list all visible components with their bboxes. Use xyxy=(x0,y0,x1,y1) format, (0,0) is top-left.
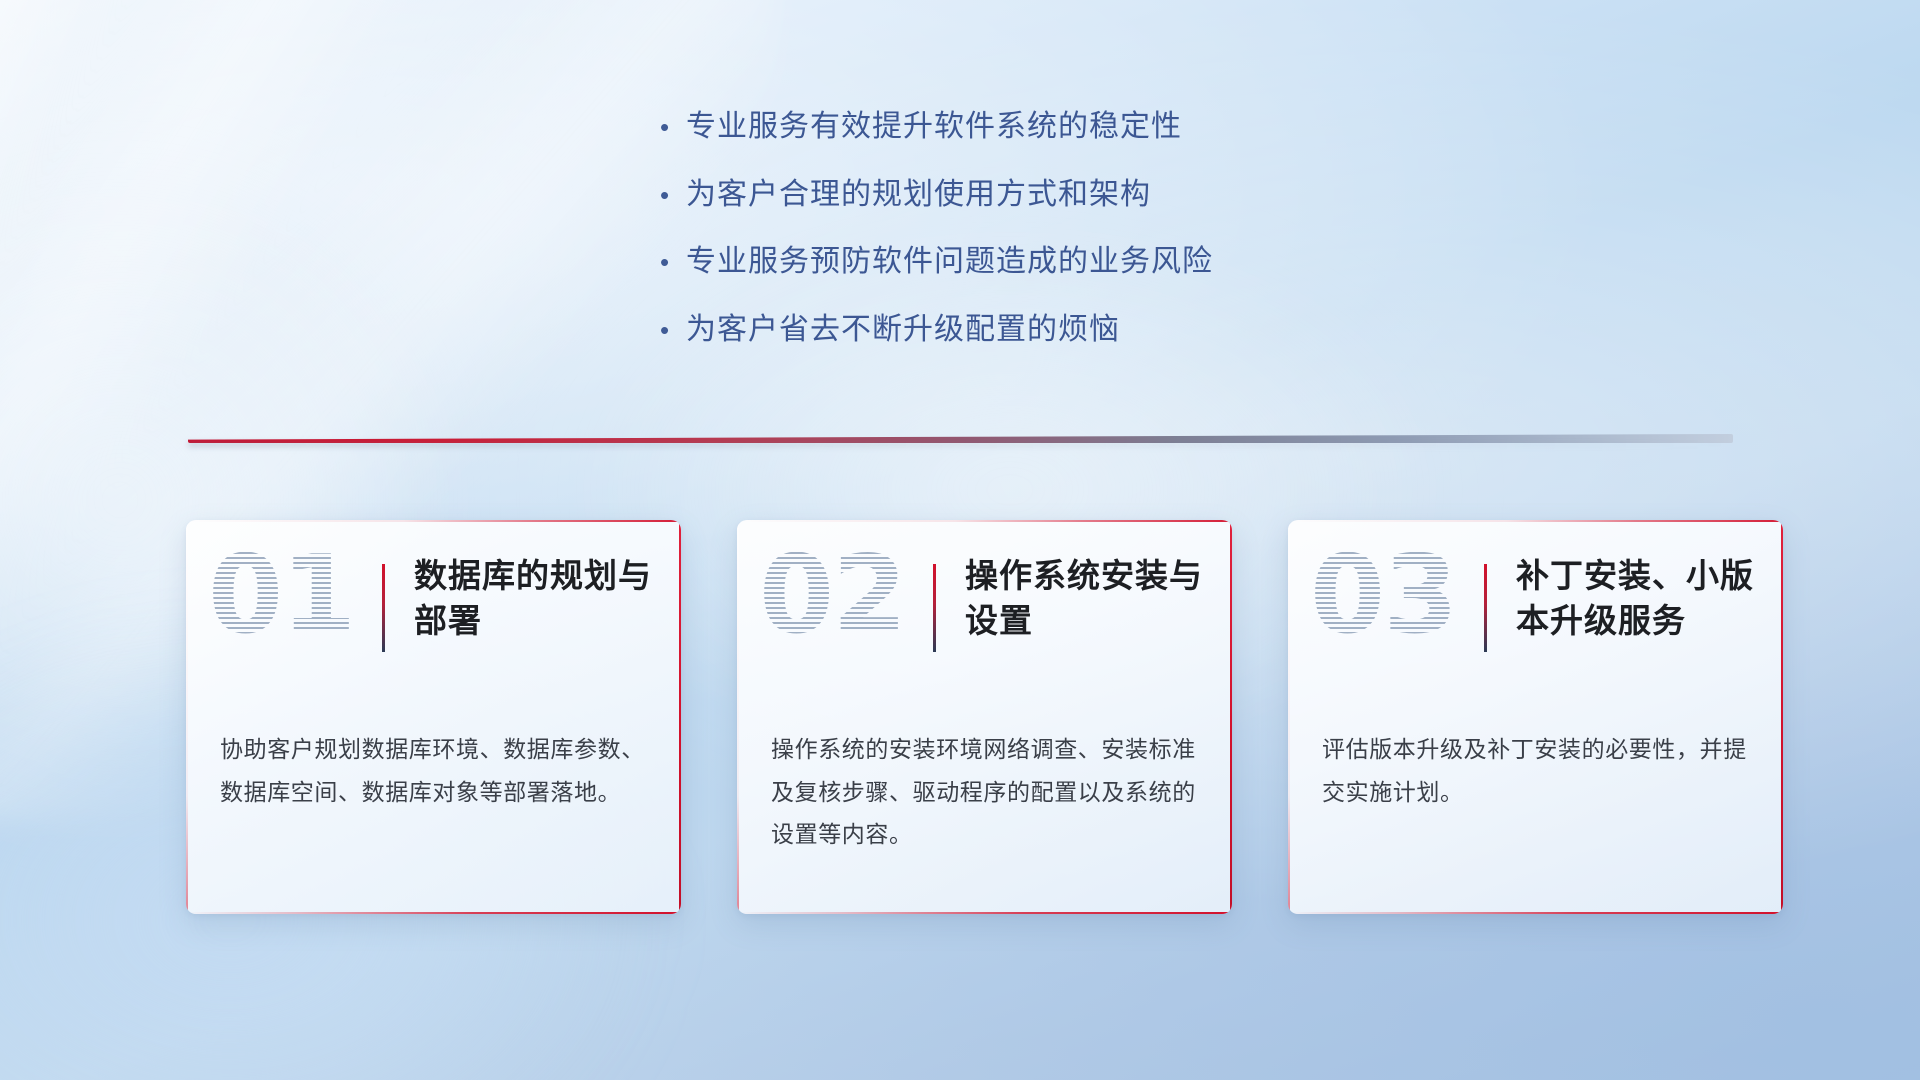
benefits-bullet-list: • 专业服务有效提升软件系统的稳定性 • 为客户合理的规划使用方式和架构 • 专… xyxy=(660,108,1213,378)
section-divider xyxy=(188,434,1733,443)
bullet-dot-icon: • xyxy=(660,182,686,208)
bullet-text-4: 为客户省去不断升级配置的烦恼 xyxy=(686,311,1120,349)
card-body-text: 操作系统的安装环境网络调查、安装标准及复核步骤、驱动程序的配置以及系统的设置等内… xyxy=(771,728,1201,856)
card-body-text: 评估版本升级及补丁安装的必要性，并提交实施计划。 xyxy=(1322,728,1752,813)
bullet-text-1: 专业服务有效提升软件系统的稳定性 xyxy=(686,108,1182,146)
bullet-text-2: 为客户合理的规划使用方式和架构 xyxy=(686,176,1151,214)
service-card-01[interactable]: 01 数据库的规划与部署 协助客户规划数据库环境、数据库参数、数据库空间、数据库… xyxy=(186,520,681,914)
card-number-watermark: 02 xyxy=(759,542,905,650)
card-header: 02 操作系统安装与设置 xyxy=(737,520,1232,700)
bullet-dot-icon: • xyxy=(660,317,686,343)
card-title: 数据库的规划与部署 xyxy=(414,554,664,644)
slide-root: • 专业服务有效提升软件系统的稳定性 • 为客户合理的规划使用方式和架构 • 专… xyxy=(0,0,1920,1080)
list-item: • 为客户省去不断升级配置的烦恼 xyxy=(660,311,1213,349)
card-accent-bottom xyxy=(1288,912,1783,915)
card-number-watermark: 01 xyxy=(208,542,354,650)
card-accent-bottom xyxy=(186,912,681,915)
card-title: 补丁安装、小版本升级服务 xyxy=(1516,554,1766,644)
service-card-list: 01 数据库的规划与部署 协助客户规划数据库环境、数据库参数、数据库空间、数据库… xyxy=(186,520,1783,914)
card-accent-bottom xyxy=(737,912,1232,915)
list-item: • 为客户合理的规划使用方式和架构 xyxy=(660,176,1213,214)
card-title-rule xyxy=(382,564,385,652)
list-item: • 专业服务预防软件问题造成的业务风险 xyxy=(660,243,1213,281)
divider-shadow xyxy=(188,442,1733,447)
card-title-rule xyxy=(1484,564,1487,652)
bullet-dot-icon: • xyxy=(660,114,686,140)
card-number-watermark: 03 xyxy=(1310,542,1456,650)
bullet-text-3: 专业服务预防软件问题造成的业务风险 xyxy=(686,243,1213,281)
service-card-02[interactable]: 02 操作系统安装与设置 操作系统的安装环境网络调查、安装标准及复核步骤、驱动程… xyxy=(737,520,1232,914)
bullet-dot-icon: • xyxy=(660,249,686,275)
card-header: 03 补丁安装、小版本升级服务 xyxy=(1288,520,1783,700)
list-item: • 专业服务有效提升软件系统的稳定性 xyxy=(660,108,1213,146)
card-title-rule xyxy=(933,564,936,652)
card-header: 01 数据库的规划与部署 xyxy=(186,520,681,700)
service-card-03[interactable]: 03 补丁安装、小版本升级服务 评估版本升级及补丁安装的必要性，并提交实施计划。 xyxy=(1288,520,1783,914)
card-body-text: 协助客户规划数据库环境、数据库参数、数据库空间、数据库对象等部署落地。 xyxy=(220,728,650,813)
card-title: 操作系统安装与设置 xyxy=(965,554,1215,644)
